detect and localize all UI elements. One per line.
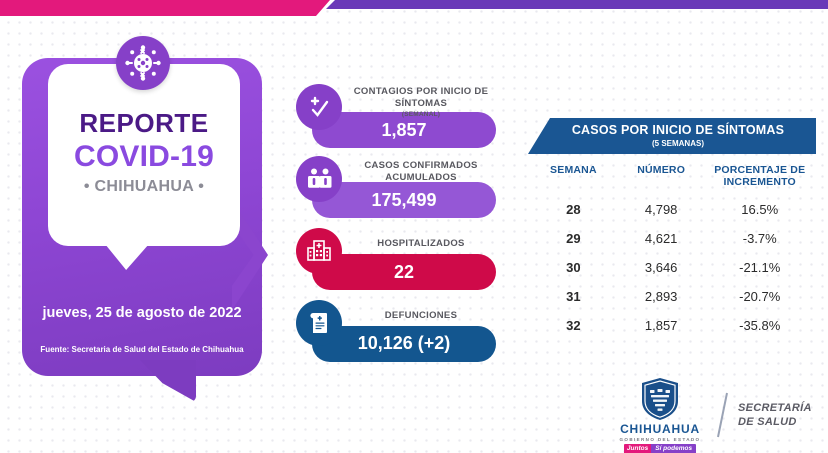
table-header-banner: CASOS POR INICIO DE SÍNTOMAS (5 SEMANAS) (528, 118, 816, 154)
secretaria-line2: DE SALUD (738, 415, 812, 429)
stat-sublabel: (SEMANAL) (342, 109, 500, 121)
stat-label-text: CONTAGIOS POR INICIO DE SÍNTOMAS (354, 86, 488, 109)
cell-numero: 3,646 (615, 260, 708, 275)
cell-numero: 4,798 (615, 202, 708, 217)
tagline-si-podemos: Sí podemos (651, 444, 696, 453)
chihuahua-government-logo: CHIHUAHUA GOBIERNO DEL ESTADO Juntos Sí … (610, 377, 710, 453)
cell-semana: 28 (532, 202, 615, 217)
cell-porcentaje: -21.1% (707, 260, 812, 275)
cell-semana: 29 (532, 231, 615, 246)
table-row: 30 3,646 -21.1% (528, 260, 816, 275)
banner-purple-stripe (326, 0, 828, 9)
cell-numero: 1,857 (615, 318, 708, 333)
stat-card-confirmados: CASOS CONFIRMADOS ACUMULADOS 175,499 (296, 156, 496, 216)
secretaria-line1: SECRETARÍA (738, 401, 812, 415)
logo-name-chihuahua: CHIHUAHUA (620, 422, 700, 436)
secretaria-de-salud-logo: SECRETARÍA DE SALUD (738, 401, 812, 429)
report-source: Fuente: Secretaria de Salud del Estado d… (24, 345, 260, 354)
stat-label-hospitalizados: HOSPITALIZADOS (342, 238, 500, 250)
stat-value-confirmados: 175,499 (312, 190, 496, 211)
page-title-covid: COVID-19 (48, 140, 240, 174)
column-header-semana: SEMANA (532, 164, 615, 188)
cell-porcentaje: -3.7% (707, 231, 812, 246)
column-header-porcentaje: PORCENTAJE DE INCREMENTO (707, 164, 812, 188)
cell-semana: 30 (532, 260, 615, 275)
cell-porcentaje: -20.7% (707, 289, 812, 304)
table-row: 28 4,798 16.5% (528, 202, 816, 217)
report-date: jueves, 25 de agosto de 2022 (28, 305, 256, 321)
table-subtitle: (5 SEMANAS) (528, 139, 816, 148)
panel-corner-tail (140, 360, 196, 402)
table-column-headers: SEMANA NÚMERO PORCENTAJE DE INCREMENTO (528, 164, 816, 188)
column-header-porcentaje-line1: PORCENTAJE DE (714, 164, 805, 176)
stat-value-contagios: 1,857 (312, 120, 496, 141)
table-row: 31 2,893 -20.7% (528, 289, 816, 304)
stat-label-text: DEFUNCIONES (385, 310, 457, 321)
column-header-porcentaje-line2: INCREMENTO (724, 176, 796, 188)
coronavirus-icon (116, 36, 170, 90)
stat-label-defunciones: DEFUNCIONES (342, 310, 500, 322)
stat-label-text: CASOS CONFIRMADOS ACUMULADOS (364, 160, 477, 183)
cell-numero: 2,893 (615, 289, 708, 304)
stat-label-confirmados: CASOS CONFIRMADOS ACUMULADOS (342, 160, 500, 183)
logo-tagline: Juntos Sí podemos (624, 444, 696, 453)
page-title-reporte: REPORTE (48, 108, 240, 139)
page-title-chihuahua: • CHIHUAHUA • (48, 178, 240, 196)
logo-divider (710, 389, 736, 441)
stat-card-defunciones: DEFUNCIONES 10,126 (+2) (296, 300, 496, 360)
table-title: CASOS POR INICIO DE SÍNTOMAS (528, 123, 816, 137)
column-header-numero: NÚMERO (615, 164, 708, 188)
table-row: 29 4,621 -3.7% (528, 231, 816, 246)
cell-porcentaje: 16.5% (707, 202, 812, 217)
logo-gobierno-del-estado: GOBIERNO DEL ESTADO (620, 437, 701, 442)
chihuahua-shield-icon (640, 377, 680, 421)
stat-value-defunciones: 10,126 (+2) (312, 333, 496, 354)
tagline-juntos: Juntos (624, 444, 651, 453)
cell-semana: 32 (532, 318, 615, 333)
stat-card-contagios: CONTAGIOS POR INICIO DE SÍNTOMAS (SEMANA… (296, 84, 496, 144)
stat-card-hospitalizados: HOSPITALIZADOS 22 (296, 228, 496, 288)
cell-porcentaje: -35.8% (707, 318, 812, 333)
cell-semana: 31 (532, 289, 615, 304)
report-infographic: REPORTE COVID-19 • CHIHUAHUA • jueves, 2… (0, 0, 828, 453)
top-banner (0, 0, 828, 16)
cases-table: CASOS POR INICIO DE SÍNTOMAS (5 SEMANAS)… (528, 118, 816, 333)
stat-label-contagios: CONTAGIOS POR INICIO DE SÍNTOMAS (SEMANA… (342, 86, 500, 121)
cell-numero: 4,621 (615, 231, 708, 246)
footer-logos: CHIHUAHUA GOBIERNO DEL ESTADO Juntos Sí … (610, 382, 820, 448)
banner-pink-stripe (0, 0, 330, 16)
stat-label-text: HOSPITALIZADOS (377, 238, 464, 249)
stat-value-hospitalizados: 22 (312, 262, 496, 283)
table-row: 32 1,857 -35.8% (528, 318, 816, 333)
